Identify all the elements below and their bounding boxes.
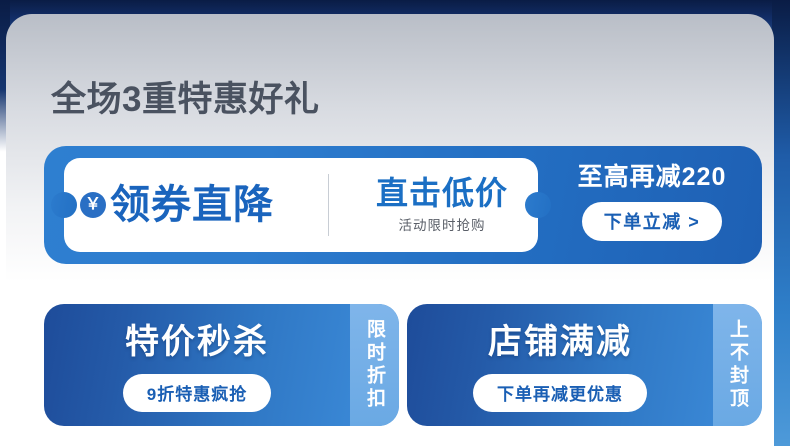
yen-currency-icon: ￥ <box>80 192 106 218</box>
promo-banner-stage: 全场3重特惠好礼 ￥ 领券直降 直击低价 活动限时抢购 至高再减220 下单立减… <box>0 0 790 446</box>
promo-card-pill-button[interactable]: 下单再减更优惠 <box>473 374 647 412</box>
banner-discount-amount: 至高再减220 <box>550 160 754 194</box>
coupon-note: 活动限时抢购 <box>356 214 528 234</box>
coupon-headline: 领券直降 <box>110 183 274 227</box>
promo-card-flash-sale[interactable]: 特价秒杀 9折特惠疯抢 限时折扣 <box>44 304 399 426</box>
frame-right-border <box>772 0 790 446</box>
promo-card-title: 店铺满减 <box>407 322 713 362</box>
promo-card-side-strip-label: 限时折扣 <box>350 304 399 426</box>
promo-card-store-discount[interactable]: 店铺满减 下单再减更优惠 上不封顶 <box>407 304 762 426</box>
main-coupon-banner[interactable]: ￥ 领券直降 直击低价 活动限时抢购 至高再减220 下单立减 > <box>44 146 762 264</box>
banner-offer-block: 至高再减220 下单立减 > <box>550 160 754 241</box>
coupon-sub-headline: 直击低价 <box>356 174 528 212</box>
coupon-secondary-block: 直击低价 活动限时抢购 <box>356 174 528 234</box>
promo-card-side-strip-label: 上不封顶 <box>713 304 762 426</box>
promo-card-body: 店铺满减 下单再减更优惠 <box>407 304 713 426</box>
ticket-notch-right-icon <box>525 192 551 218</box>
coupon-ticket-card[interactable]: ￥ 领券直降 直击低价 活动限时抢购 <box>64 158 538 252</box>
promo-card-pill-wrap: 9折特惠疯抢 <box>44 374 350 412</box>
page-title: 全场3重特惠好礼 <box>51 71 319 122</box>
ticket-divider <box>328 174 329 236</box>
promo-card-pill-button[interactable]: 9折特惠疯抢 <box>123 374 271 412</box>
order-discount-cta-button[interactable]: 下单立减 > <box>582 202 723 241</box>
ticket-notch-left-icon <box>51 192 77 218</box>
promo-card-side-strip: 限时折扣 <box>350 304 399 426</box>
promo-card-title: 特价秒杀 <box>44 322 350 362</box>
promo-card-pill-wrap: 下单再减更优惠 <box>407 374 713 412</box>
promo-card-side-strip: 上不封顶 <box>713 304 762 426</box>
content-panel: 全场3重特惠好礼 ￥ 领券直降 直击低价 活动限时抢购 至高再减220 下单立减… <box>6 14 774 446</box>
promo-card-body: 特价秒杀 9折特惠疯抢 <box>44 304 350 426</box>
